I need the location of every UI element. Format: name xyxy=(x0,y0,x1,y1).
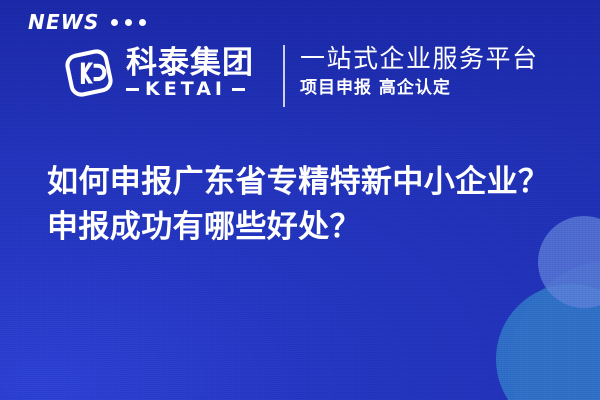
eyebrow-dot xyxy=(111,19,118,26)
eyebrow-dot xyxy=(139,19,146,26)
eyebrow: NEWS xyxy=(28,12,146,32)
headline: 如何申报广东省专精特新中小企业？申报成功有哪些好处？ xyxy=(47,160,562,250)
wordmark-rule-right xyxy=(232,88,245,91)
news-banner: NEWS 科泰集团 KETAI xyxy=(0,0,600,400)
brand-lockup: 科泰集团 KETAI xyxy=(60,44,254,102)
brand-name-en-row: KETAI xyxy=(126,80,254,99)
brand-name-en: KETAI xyxy=(145,80,226,99)
wordmark-rule-left xyxy=(126,88,139,91)
ketai-diamond-kd-logo-icon xyxy=(60,44,118,102)
brand-name-cn: 科泰集团 xyxy=(126,47,254,79)
eyebrow-label: NEWS xyxy=(28,12,100,32)
tagline-main: 一站式企业服务平台 xyxy=(300,44,539,74)
wordmark: 科泰集团 KETAI xyxy=(126,47,254,99)
eyebrow-dots xyxy=(111,19,146,26)
eyebrow-dot xyxy=(125,19,132,26)
tagline-sub: 项目申报 高企认定 xyxy=(300,78,539,98)
tagline-block: 一站式企业服务平台 项目申报 高企认定 xyxy=(300,44,539,98)
vertical-divider xyxy=(283,45,285,107)
